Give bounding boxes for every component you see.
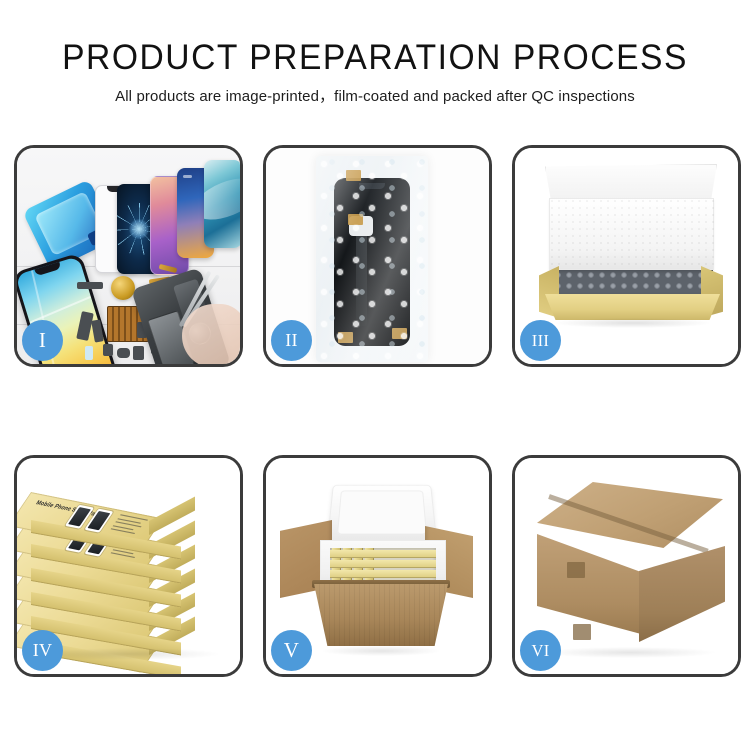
carton-tape-patch	[573, 624, 591, 640]
white-foam-sheet	[549, 198, 714, 270]
process-step-grid: I	[14, 145, 740, 677]
process-step-1: I	[14, 145, 243, 367]
step-badge-5: V	[271, 630, 312, 671]
step-badge-4: IV	[22, 630, 63, 671]
yellow-box-front	[545, 294, 720, 320]
header: PRODUCT PREPARATION PROCESS All products…	[0, 38, 750, 106]
carton-front-wall	[314, 584, 448, 646]
drop-shadow	[545, 647, 715, 658]
foam-box-lid	[327, 485, 437, 543]
page-subtitle: All products are image-printed，film-coat…	[6, 87, 745, 106]
drop-shadow	[555, 318, 710, 328]
carton-tape-patch	[567, 562, 585, 578]
drop-shadow	[39, 648, 219, 660]
process-step-2: II	[263, 145, 492, 367]
drop-shadow	[322, 646, 440, 656]
step-badge-2: II	[271, 320, 312, 361]
step-badge-6: VI	[520, 630, 561, 671]
technician-hand	[182, 304, 240, 364]
small-component	[103, 344, 113, 356]
small-component	[117, 348, 130, 358]
product-preparation-process-graphic: PRODUCT PREPARATION PROCESS All products…	[0, 0, 750, 750]
speaker-part	[77, 282, 103, 289]
teal-wave-phone	[204, 160, 240, 248]
step-badge-1: I	[22, 320, 63, 361]
bubble-wrap-bag	[316, 156, 428, 362]
copper-coil-part	[111, 276, 135, 300]
grey-bubble-padding	[553, 270, 713, 298]
retail-box: Mobile Phone Spare Parts	[31, 492, 181, 514]
process-step-3: III	[512, 145, 741, 367]
process-step-4: Mobile Phone Spare Parts Mobile Phone Sp…	[14, 455, 243, 677]
page-title: PRODUCT PREPARATION PROCESS	[15, 38, 735, 78]
sim-tray-part	[85, 346, 93, 360]
process-step-5: V	[263, 455, 492, 677]
plastic-sheen	[316, 156, 428, 362]
step-badge-3: III	[520, 320, 561, 361]
small-component	[133, 346, 144, 360]
process-step-6: VI	[512, 455, 741, 677]
